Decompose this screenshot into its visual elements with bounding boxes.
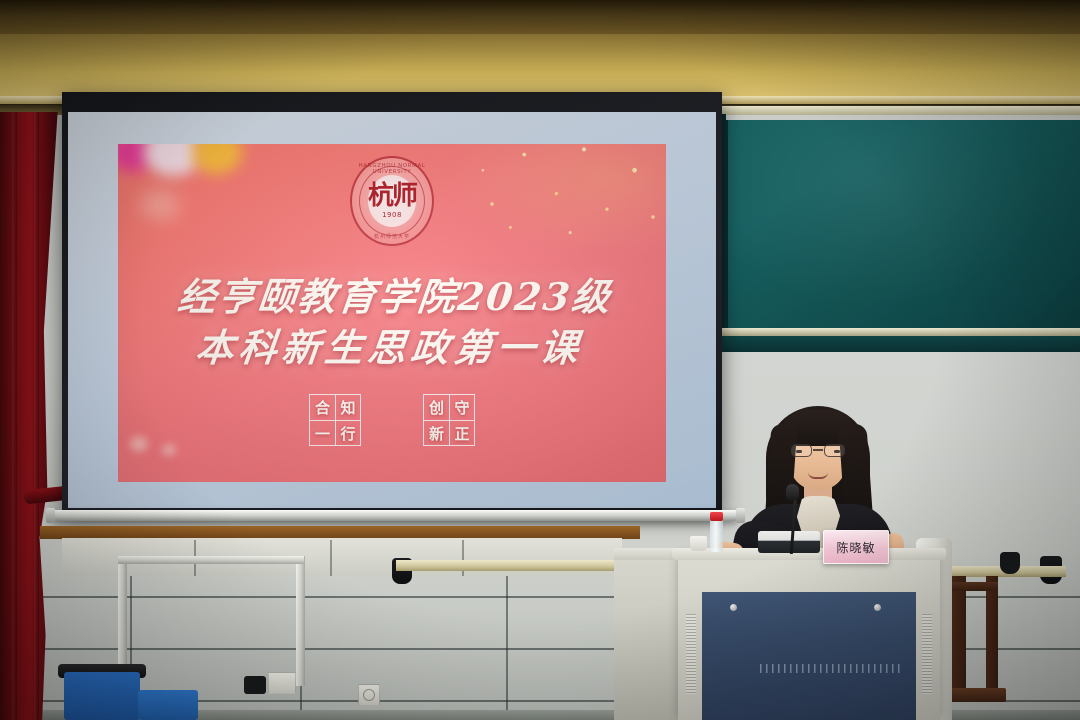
- podium-vent-slots: [686, 614, 696, 694]
- blackboard-chalk-tray: [722, 328, 1080, 336]
- wall-mounted-bracket: [244, 676, 266, 694]
- blackboard-top-rail: [718, 106, 1080, 115]
- seal-arc-bottom-text: 杭州师范大学: [350, 233, 434, 240]
- chair-seat: [946, 688, 1006, 702]
- motto-grid-left: 合 知 一 行: [309, 394, 361, 446]
- recycling-bin[interactable]: ♻: [64, 672, 140, 720]
- curtain-fold: [12, 112, 17, 720]
- blackboard: [718, 100, 1080, 350]
- screen-weight-bar: [52, 510, 738, 521]
- water-bottle[interactable]: [710, 518, 723, 552]
- motto-cell: 行: [335, 420, 361, 446]
- presentation-slide: HANGZHOU NORMAL UNIVERSITY 杭州师范大学 杭师 190…: [118, 144, 666, 482]
- slide-title-line-2: 本科新生思政第一课: [118, 323, 666, 374]
- laptop-computer[interactable]: [758, 531, 820, 553]
- podium-front-panel: [702, 592, 916, 720]
- university-seal-logo: HANGZHOU NORMAL UNIVERSITY 杭州师范大学 杭师 190…: [350, 156, 434, 246]
- blackboard-surface: [724, 120, 1080, 330]
- blackboard-lower-panel: [722, 336, 1080, 352]
- motto-cell: 新: [423, 420, 449, 446]
- eyeglasses-icon: [790, 444, 846, 457]
- motto-cell: 知: [335, 394, 361, 420]
- bokeh-light: [192, 144, 242, 174]
- wall-junction-box: [268, 672, 296, 694]
- eyeglass-bridge: [813, 449, 823, 451]
- bokeh-light: [140, 190, 180, 220]
- slide-title-line-1: 经亨颐教育学院2023级: [118, 272, 666, 323]
- projection-screen-surface: HANGZHOU NORMAL UNIVERSITY 杭州师范大学 杭师 190…: [68, 112, 716, 508]
- motto-cell: 守: [449, 394, 475, 420]
- lecture-hall-photo: HANGZHOU NORMAL UNIVERSITY 杭州师范大学 杭师 190…: [0, 0, 1080, 720]
- seal-founding-year: 1908: [382, 211, 402, 219]
- podium-screw: [874, 604, 881, 611]
- seal-glyph: 杭师: [368, 183, 416, 209]
- wall-power-outlet[interactable]: [358, 684, 380, 706]
- motto-cell: 正: [449, 420, 475, 446]
- curtain-fold: [34, 112, 39, 720]
- outlet-socket-icon: [363, 689, 375, 701]
- wall-mounted-bracket: [1000, 552, 1020, 574]
- chair-back-post: [986, 576, 998, 688]
- podium-screw: [730, 604, 737, 611]
- presenter-desk-front: [614, 560, 684, 720]
- screen-bar-end-cap: [46, 508, 55, 523]
- motto-cell: 合: [309, 394, 335, 420]
- sparkle-particles: [446, 144, 666, 256]
- wall-conduit-pipe: [118, 556, 304, 564]
- paper-cup[interactable]: [690, 536, 707, 551]
- projection-screen: HANGZHOU NORMAL UNIVERSITY 杭州师范大学 杭师 190…: [62, 92, 722, 512]
- motto-grids: 合 知 一 行 创 守 新 正: [118, 394, 666, 446]
- slide-title: 经亨颐教育学院2023级 本科新生思政第一课: [118, 272, 666, 374]
- name-placard-text: 陈晓敏: [836, 539, 875, 556]
- chair-back-post: [952, 576, 966, 688]
- motto-cell: 一: [309, 420, 335, 446]
- eyeglass-lens-left: [791, 444, 812, 457]
- recycling-bin-secondary[interactable]: [138, 690, 198, 720]
- podium-vent-slots: [922, 614, 932, 694]
- seal-center: 杭师 1908: [368, 175, 416, 227]
- seal-arc-top-text: HANGZHOU NORMAL UNIVERSITY: [350, 163, 434, 175]
- motto-grid-right: 创 守 新 正: [423, 394, 475, 446]
- motto-cell: 创: [423, 394, 449, 420]
- wooden-chair[interactable]: [952, 576, 1000, 720]
- name-placard: 陈晓敏: [823, 530, 889, 564]
- microphone-head[interactable]: [786, 484, 799, 500]
- chair-back-rail: [952, 582, 998, 591]
- podium-decor-dots: [760, 664, 902, 673]
- wall-conduit-pipe: [296, 556, 305, 686]
- water-bottle-cap: [710, 512, 723, 521]
- eyeglass-lens-right: [824, 444, 845, 457]
- cabinet-divider: [330, 540, 332, 576]
- lectern-podium: [678, 556, 940, 720]
